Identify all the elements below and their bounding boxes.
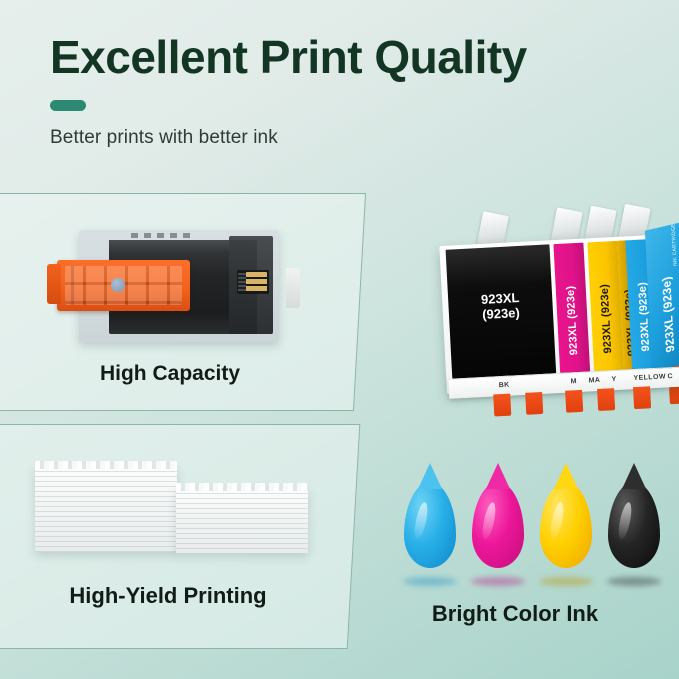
high-capacity-cartridge-image xyxy=(57,230,295,345)
paper-stack-small xyxy=(176,487,308,553)
chip-ic-icon xyxy=(238,273,246,291)
caption-bright-color-ink: Bright Color Ink xyxy=(360,601,670,627)
drop-shadow-yellow xyxy=(539,577,593,586)
paper-stack-large xyxy=(35,465,177,552)
label-ma: MA xyxy=(588,377,600,385)
ink-cartridge-set-image: 923XL (923e) 923XL (923e) 923XL (923e) 9… xyxy=(438,204,678,421)
ink-drop-magenta-icon xyxy=(472,482,524,568)
model-line-2: (923e) xyxy=(482,305,520,322)
cartridge-foot xyxy=(633,386,651,409)
header: Excellent Print Quality Better prints wi… xyxy=(50,33,650,149)
ink-drops-image xyxy=(398,482,668,592)
label-m: M xyxy=(570,378,577,385)
drop-shadow-cyan xyxy=(403,577,457,586)
product-feature-graphic: Excellent Print Quality Better prints wi… xyxy=(0,0,679,679)
label-bk: BK xyxy=(499,382,510,390)
clip-side-tab xyxy=(47,264,61,304)
ink-drop-cyan-icon xyxy=(404,482,456,568)
cartridge-foot xyxy=(597,388,615,411)
cartridge-vent-dots xyxy=(131,233,191,238)
cartridge-orange-clip xyxy=(57,260,190,311)
caption-high-yield: High-Yield Printing xyxy=(0,583,336,609)
label-y: Y xyxy=(611,376,616,383)
page-subtitle: Better prints with better ink xyxy=(50,127,650,149)
model-line-1: 923XL xyxy=(481,290,520,307)
cartridge-side-tab xyxy=(286,268,300,308)
accent-dash xyxy=(50,100,86,111)
drop-shadow-magenta xyxy=(471,577,525,586)
cartridge-black-model: 923XL (923e) xyxy=(448,288,553,324)
clip-knob-icon xyxy=(111,278,125,292)
cartridge-black: 923XL (923e) xyxy=(446,244,557,378)
cartridge-foot xyxy=(493,394,511,417)
chip-gold-contacts-icon xyxy=(246,272,267,292)
caption-high-capacity: High Capacity xyxy=(0,362,340,386)
cartridge-foot xyxy=(525,392,543,415)
cartridge-cyan-side-model: 923XL (923e) xyxy=(659,275,677,354)
ink-drop-black-icon xyxy=(608,482,660,568)
page-title: Excellent Print Quality xyxy=(50,33,650,81)
label-yellow: YELLOW xyxy=(633,373,666,382)
ink-drop-yellow-icon xyxy=(540,482,592,568)
drop-shadow-black xyxy=(607,577,661,586)
label-c: C xyxy=(667,373,673,380)
cartridge-magenta-model: 923XL (923e) xyxy=(565,286,581,356)
cartridge-yellow-model: 923XL (923e) xyxy=(599,284,615,354)
cartridge-foot xyxy=(565,390,583,413)
cartridge-side-subtext: INK CARTRIDGE xyxy=(671,222,679,266)
